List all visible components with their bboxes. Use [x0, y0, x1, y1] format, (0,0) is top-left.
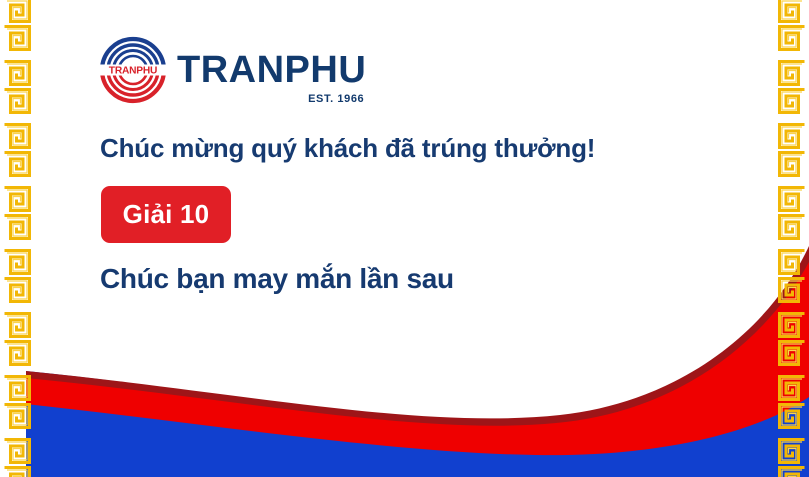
banner-content: TRANPHU TRANPHU EST. 1966 Chúc mừng quý … [0, 0, 809, 477]
meander-column-left [0, 0, 46, 477]
congratulations-headline: Chúc mừng quý khách đã trúng thưởng! [100, 133, 595, 164]
meander-tile [2, 150, 42, 178]
meander-tile [2, 402, 42, 430]
meander-tile [2, 465, 42, 477]
meander-tile [767, 213, 807, 241]
meander-tile [2, 185, 42, 213]
better-luck-message: Chúc bạn may mắn lần sau [100, 263, 454, 295]
tranphu-logo-icon: TRANPHU [99, 36, 167, 104]
meander-tile [767, 437, 807, 465]
meander-tile [767, 402, 807, 430]
meander-tile [2, 311, 42, 339]
meander-tile [767, 87, 807, 115]
brand-wordmark-block: TRANPHU EST. 1966 [177, 51, 366, 89]
prize-badge: Giải 10 [101, 186, 231, 243]
meander-tile [767, 339, 807, 367]
meander-tile [767, 122, 807, 150]
meander-tile [767, 465, 807, 477]
meander-tile [767, 0, 807, 24]
prize-badge-label: Giải 10 [123, 199, 210, 230]
meander-tile [2, 248, 42, 276]
meander-tile [2, 437, 42, 465]
meander-tile [2, 213, 42, 241]
meander-column-right [763, 0, 809, 477]
meander-tile [767, 374, 807, 402]
brand-established: EST. 1966 [308, 93, 364, 105]
meander-tile [767, 248, 807, 276]
meander-tile [2, 374, 42, 402]
meander-tile [767, 59, 807, 87]
decorative-border-left [0, 0, 46, 477]
decorative-border-right [763, 0, 809, 477]
meander-tile [2, 0, 42, 24]
meander-tile [767, 276, 807, 304]
promo-banner: TRANPHU TRANPHU EST. 1966 Chúc mừng quý … [0, 0, 809, 477]
meander-tile [2, 59, 42, 87]
brand-logo: TRANPHU TRANPHU EST. 1966 [99, 36, 366, 104]
meander-tile [2, 87, 42, 115]
meander-tile [767, 24, 807, 52]
svg-text:TRANPHU: TRANPHU [109, 65, 157, 76]
brand-wordmark: TRANPHU [177, 51, 366, 89]
meander-tile [2, 122, 42, 150]
meander-tile [2, 339, 42, 367]
meander-tile [2, 276, 42, 304]
meander-tile [2, 24, 42, 52]
meander-tile [767, 311, 807, 339]
meander-tile [767, 185, 807, 213]
meander-tile [767, 150, 807, 178]
